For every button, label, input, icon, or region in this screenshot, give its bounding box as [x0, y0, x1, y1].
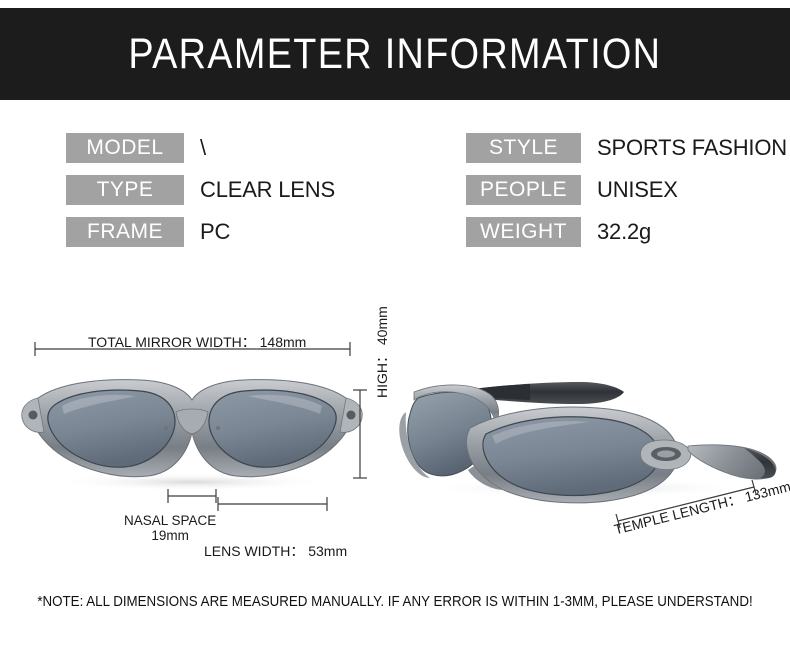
- dimension-nasal-space: [168, 489, 216, 503]
- product-diagram: [0, 320, 790, 580]
- spec-row-model: MODEL \: [66, 133, 335, 163]
- spec-value-type: CLEAR LENS: [200, 177, 335, 203]
- spec-row-weight: WEIGHT 32.2g: [466, 217, 787, 247]
- dimension-label-nasal-space: NASAL SPACE 19mm: [124, 513, 216, 543]
- dimension-label-height: HIGH： 40mm: [372, 306, 392, 398]
- spec-row-type: TYPE CLEAR LENS: [66, 175, 335, 205]
- spec-value-model: \: [200, 135, 206, 161]
- spec-value-people: UNISEX: [597, 177, 678, 203]
- sunglasses-front-view: [22, 380, 363, 491]
- spec-row-style: STYLE SPORTS FASHION: [466, 133, 787, 163]
- nasal-space-value: 19mm: [124, 528, 216, 543]
- spec-label-type: TYPE: [66, 175, 184, 205]
- dimension-label-total-width: TOTAL MIRROR WIDTH： 148mm: [88, 332, 306, 352]
- spec-table-right: STYLE SPORTS FASHION PEOPLE UNISEX WEIGH…: [466, 133, 787, 247]
- spec-table-left: MODEL \ TYPE CLEAR LENS FRAME PC: [66, 133, 335, 247]
- nasal-space-name: NASAL SPACE: [124, 513, 216, 528]
- spec-row-people: PEOPLE UNISEX: [466, 175, 787, 205]
- header-bar: PARAMETER INFORMATION: [0, 8, 790, 100]
- dimension-lens-width: [218, 497, 327, 511]
- spec-label-frame: FRAME: [66, 217, 184, 247]
- spec-label-style: STYLE: [466, 133, 581, 163]
- spec-label-people: PEOPLE: [466, 175, 581, 205]
- dimension-label-lens-width: LENS WIDTH： 53mm: [204, 541, 347, 561]
- parameter-information-page: PARAMETER INFORMATION MODEL \ TYPE CLEAR…: [0, 0, 790, 649]
- footer-note: *NOTE: ALL DIMENSIONS ARE MEASURED MANUA…: [32, 594, 759, 610]
- spec-value-frame: PC: [200, 219, 230, 245]
- spec-value-weight: 32.2g: [597, 219, 651, 245]
- spec-value-style: SPORTS FASHION: [597, 135, 787, 161]
- spec-row-frame: FRAME PC: [66, 217, 335, 247]
- spec-label-weight: WEIGHT: [466, 217, 581, 247]
- sunglasses-side-view: [399, 382, 776, 503]
- page-title: PARAMETER INFORMATION: [129, 33, 662, 76]
- spec-label-model: MODEL: [66, 133, 184, 163]
